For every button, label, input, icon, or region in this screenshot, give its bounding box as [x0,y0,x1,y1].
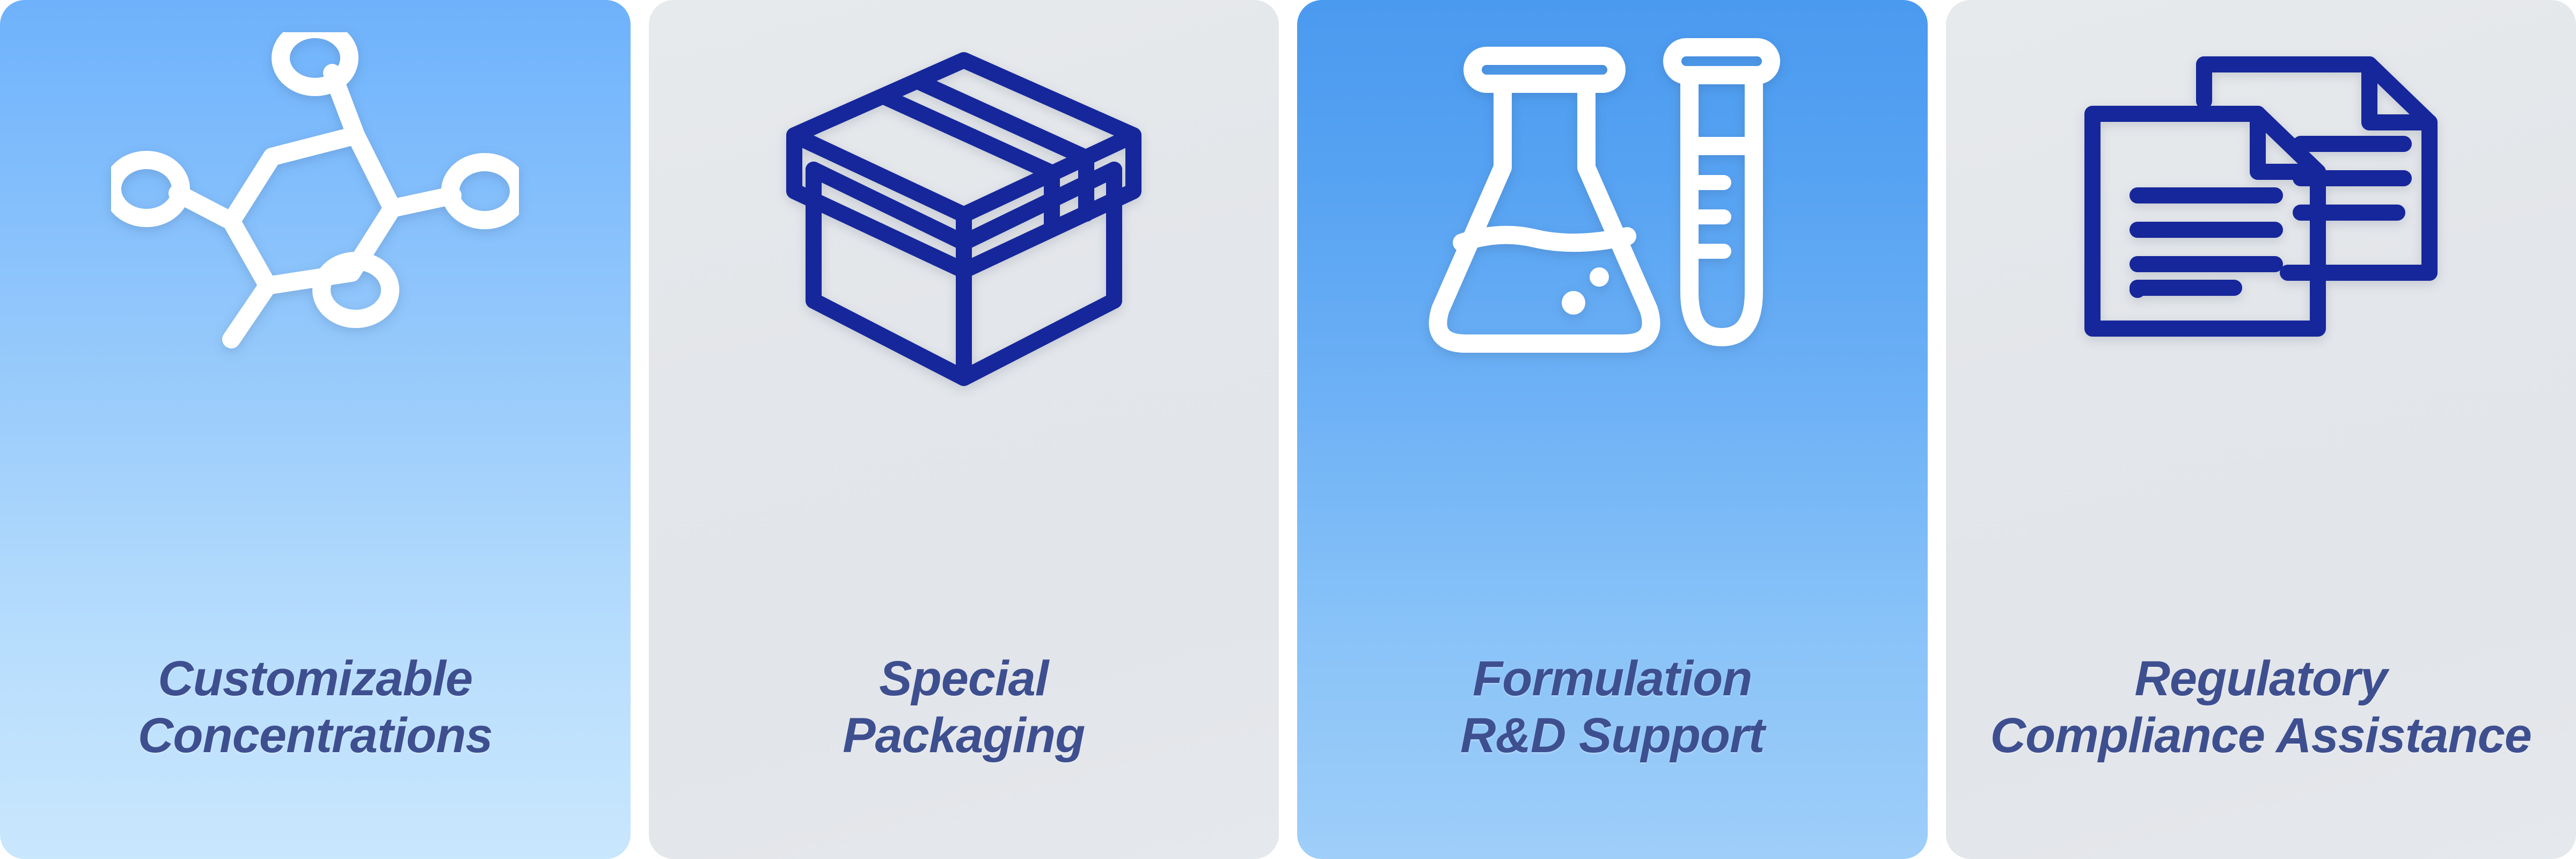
flask-test-tube-icon [1297,16,1928,424]
feature-card-label-line1: Customizable [15,650,616,708]
feature-card-strip: Customizable Concentrations [0,0,2576,859]
feature-card-label: Customizable Concentrations [0,650,631,765]
molecule-icon [0,16,631,424]
feature-card-customizable-concentrations[interactable]: Customizable Concentrations [0,0,631,859]
feature-card-label-line1: Formulation [1312,650,1913,708]
package-box-icon [649,16,1279,424]
feature-card-label-line2: R&D Support [1312,707,1913,765]
feature-card-label-line1: Special [664,650,1264,708]
feature-card-label: Regulatory Compliance Assistance [1946,650,2576,765]
feature-card-special-packaging[interactable]: Special Packaging [649,0,1279,859]
documents-icon [1946,16,2576,424]
feature-card-label: Special Packaging [649,650,1279,765]
feature-card-label-line2: Compliance Assistance [1961,707,2562,765]
feature-card-label: Formulation R&D Support [1297,650,1928,765]
feature-card-formulation-rd-support[interactable]: Formulation R&D Support [1297,0,1928,859]
feature-card-label-line2: Concentrations [15,707,616,765]
feature-card-regulatory-compliance-assistance[interactable]: Regulatory Compliance Assistance [1946,0,2576,859]
feature-card-label-line1: Regulatory [1961,650,2562,708]
feature-card-label-line2: Packaging [664,707,1264,765]
